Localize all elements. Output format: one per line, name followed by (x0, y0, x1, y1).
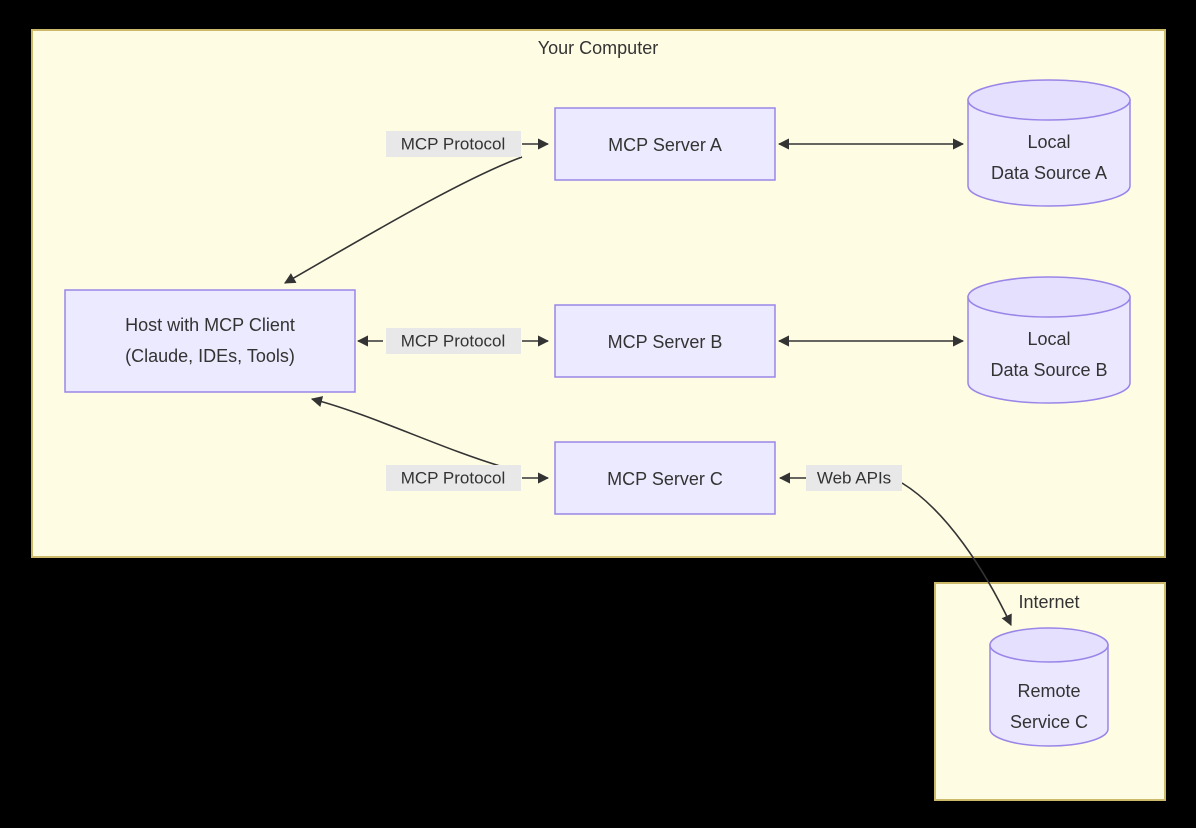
node-source-a-label-line2: Data Source A (991, 163, 1107, 183)
node-remote-c-top (990, 628, 1108, 662)
node-server-a[interactable]: MCP Server A (555, 108, 775, 180)
architecture-diagram: Your Computer Internet MCP Protocol MCP … (0, 0, 1196, 828)
edge-label-a-text: MCP Protocol (401, 134, 506, 153)
your-computer-title: Your Computer (538, 38, 658, 58)
node-source-a-top (968, 80, 1130, 120)
node-server-b-label: MCP Server B (608, 332, 723, 352)
node-server-c[interactable]: MCP Server C (555, 442, 775, 514)
node-source-b[interactable]: Local Data Source B (968, 277, 1130, 403)
node-source-b-label-line2: Data Source B (990, 360, 1107, 380)
edge-label-c-text: MCP Protocol (401, 468, 506, 487)
node-source-b-top (968, 277, 1130, 317)
node-host-label-line1: Host with MCP Client (125, 315, 295, 335)
node-source-a-label-line1: Local (1027, 132, 1070, 152)
edge-host-server-b: MCP Protocol (358, 328, 548, 354)
node-source-a[interactable]: Local Data Source A (968, 80, 1130, 206)
node-host-label-line2: (Claude, IDEs, Tools) (125, 346, 295, 366)
diagram-canvas: Your Computer Internet MCP Protocol MCP … (0, 0, 1196, 828)
node-remote-c-label-line2: Service C (1010, 712, 1088, 732)
internet-title: Internet (1018, 592, 1079, 612)
node-server-c-label: MCP Server C (607, 469, 723, 489)
node-server-a-label: MCP Server A (608, 135, 722, 155)
node-host[interactable]: Host with MCP Client (Claude, IDEs, Tool… (65, 290, 355, 392)
node-source-b-label-line1: Local (1027, 329, 1070, 349)
edge-label-b-text: MCP Protocol (401, 331, 506, 350)
node-remote-c-label-line1: Remote (1017, 681, 1080, 701)
edge-label-webapis-text: Web APIs (817, 468, 891, 487)
node-server-b[interactable]: MCP Server B (555, 305, 775, 377)
node-remote-c[interactable]: Remote Service C (990, 628, 1108, 746)
node-host-rect[interactable] (65, 290, 355, 392)
